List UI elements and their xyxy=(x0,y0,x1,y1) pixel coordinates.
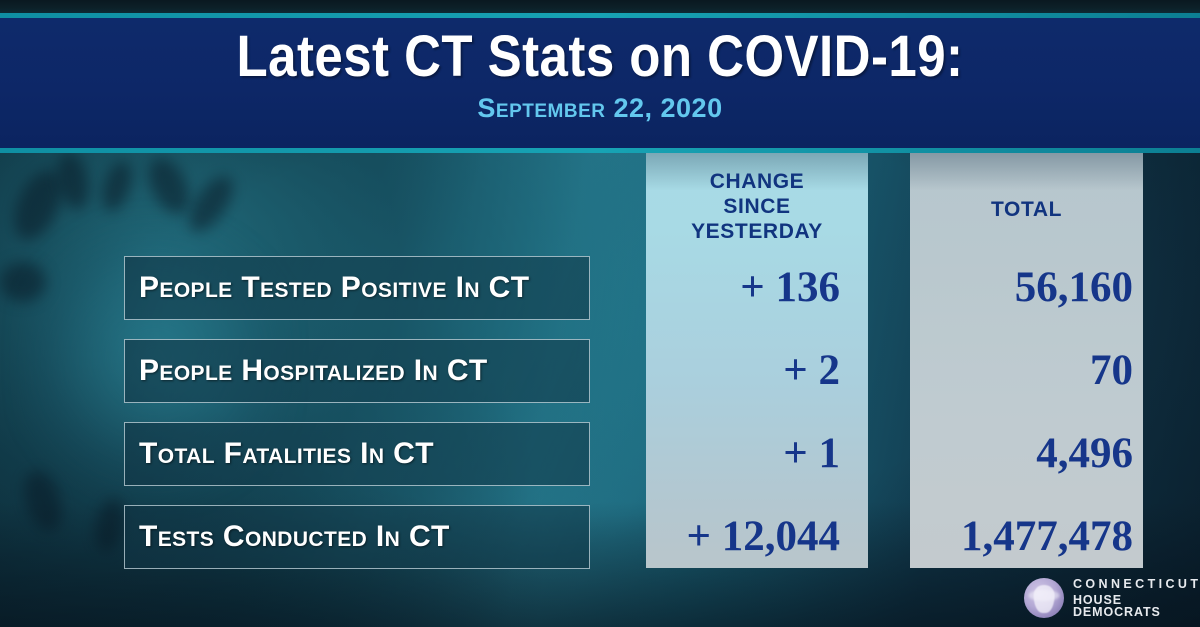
row-label-text: Total Fatalities In CT xyxy=(139,437,434,471)
logo-line-2: HOUSE DEMOCRATS xyxy=(1073,594,1200,619)
row-label-text: People Hospitalized In CT xyxy=(139,354,488,388)
header-banner: Latest CT Stats on COVID-19: September 2… xyxy=(0,18,1200,148)
table-row: People Hospitalized In CT + 2 70 xyxy=(0,339,1200,403)
row-total-value: 1,477,478 xyxy=(910,505,1143,569)
change-header-line-1: CHANGE xyxy=(646,169,868,194)
change-header-line-2: SINCE xyxy=(646,194,868,219)
row-label-box: Total Fatalities In CT xyxy=(124,422,590,486)
row-label-box: People Hospitalized In CT xyxy=(124,339,590,403)
state-seal-icon xyxy=(1024,578,1064,618)
page-title: Latest CT Stats on COVID-19: xyxy=(72,24,1128,90)
row-total-value: 4,496 xyxy=(910,422,1143,486)
row-total-value: 70 xyxy=(910,339,1143,403)
total-column-header: TOTAL xyxy=(910,197,1143,222)
table-row: Total Fatalities In CT + 1 4,496 xyxy=(0,422,1200,486)
change-header-line-3: YESTERDAY xyxy=(646,219,868,244)
row-label-text: People Tested Positive In CT xyxy=(139,271,529,305)
row-change-value: + 1 xyxy=(646,422,854,486)
top-strip xyxy=(0,0,1200,13)
table-row: People Tested Positive In CT + 136 56,16… xyxy=(0,256,1200,320)
change-column-header: CHANGE SINCE YESTERDAY xyxy=(646,169,868,244)
logo-line-1: CONNECTICUT xyxy=(1073,578,1200,591)
table-row: Tests Conducted In CT + 12,044 1,477,478 xyxy=(0,505,1200,569)
organization-logo: CONNECTICUT HOUSE DEMOCRATS xyxy=(1024,578,1200,619)
row-change-value: + 136 xyxy=(646,256,854,320)
page-date: September 22, 2020 xyxy=(0,92,1200,124)
logo-text: CONNECTICUT HOUSE DEMOCRATS xyxy=(1073,578,1200,619)
row-change-value: + 12,044 xyxy=(646,505,854,569)
row-total-value: 56,160 xyxy=(910,256,1143,320)
covid-stats-infographic: Latest CT Stats on COVID-19: September 2… xyxy=(0,0,1200,627)
row-label-box: Tests Conducted In CT xyxy=(124,505,590,569)
row-label-text: Tests Conducted In CT xyxy=(139,520,450,554)
row-label-box: People Tested Positive In CT xyxy=(124,256,590,320)
row-change-value: + 2 xyxy=(646,339,854,403)
